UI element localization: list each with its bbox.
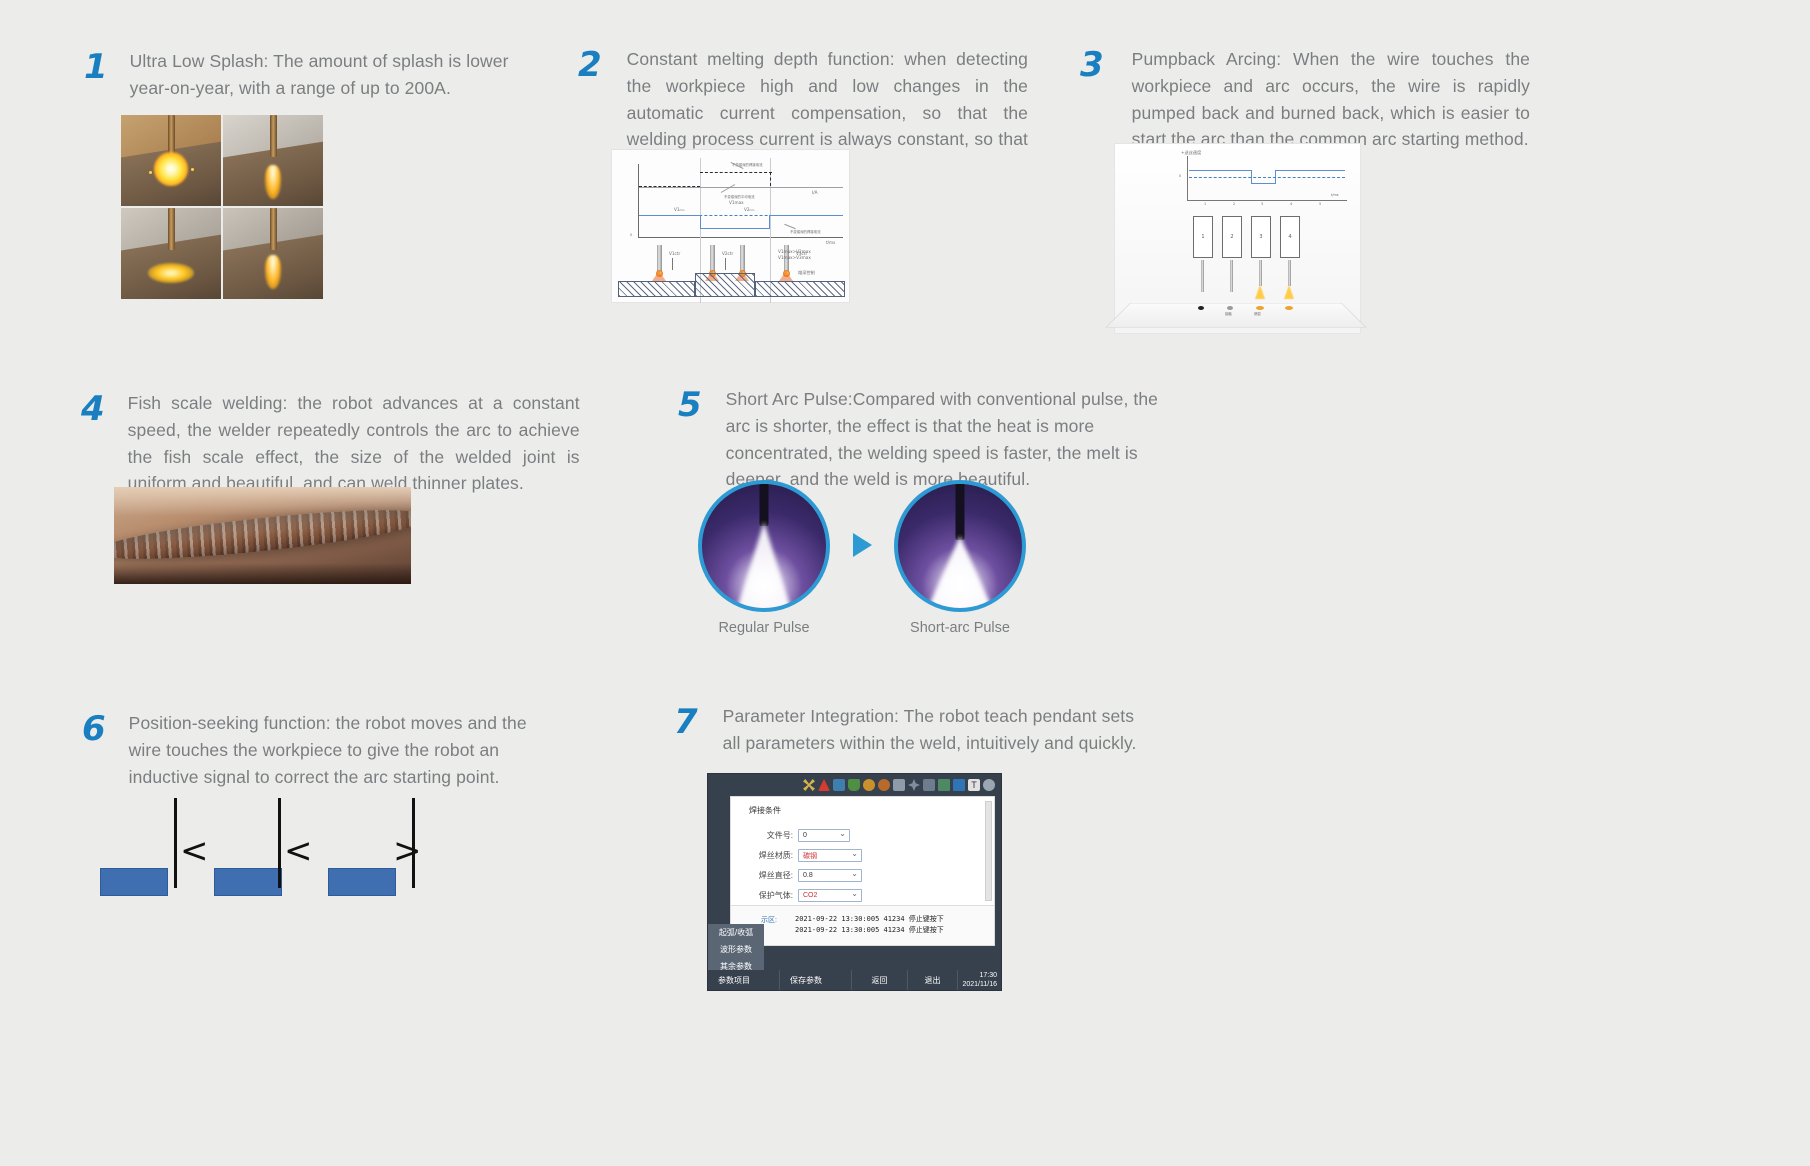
field-row-file-number: 文件号: 0	[739, 829, 850, 842]
seek-wire-1	[174, 798, 177, 888]
seek-chevron-left-2: <	[284, 834, 313, 868]
feature-3: 3 Pumpback Arcing: When the wire touches…	[1080, 46, 1530, 153]
welding-wire	[168, 208, 175, 250]
weld-cone-1	[652, 271, 666, 281]
splash-photo-2	[223, 115, 323, 206]
monitor-icon[interactable]	[953, 779, 965, 791]
hand-icon[interactable]	[893, 779, 905, 791]
feature-4-text: Fish scale welding: the robot advances a…	[128, 390, 580, 497]
chart2-annotation-v1max: V1max	[729, 200, 744, 205]
teach-pendant-screenshot: T 焊接条件 文件号: 0 焊丝材质: 碳钢 焊丝直径: 0.8 保护气体: C…	[707, 773, 1002, 991]
side-tab-arc-start-end[interactable]: 起弧/收弧	[708, 924, 764, 941]
pendant-toolbar: T	[708, 774, 1001, 796]
field-row-wire-material: 焊丝材质: 碳钢	[739, 849, 862, 862]
base-metal-left	[618, 281, 695, 297]
bottom-button-parameter-items[interactable]: 参数项目	[708, 970, 780, 990]
contact-dot-1	[1198, 306, 1204, 310]
stage-box-1-label: 1	[1201, 234, 1204, 240]
chart2-peak-current-trace	[770, 172, 772, 186]
comparison-arrow-icon	[853, 533, 872, 557]
workpiece-plane	[1105, 303, 1367, 328]
calc-icon[interactable]	[938, 779, 950, 791]
arc-glow	[154, 152, 188, 186]
seek-wire-2	[278, 798, 281, 888]
feature-3-header: 3 Pumpback Arcing: When the wire touches…	[1080, 46, 1530, 153]
feature-6-header: 6 Position-seeking function: the robot m…	[82, 710, 562, 790]
chart2-label-v1min: V1min	[674, 207, 684, 212]
shielding-gas-select[interactable]: CO2	[798, 889, 862, 902]
chart2-legend-0: V1max>V2max	[778, 249, 811, 254]
contact-dot-4	[1285, 306, 1293, 310]
stage-wire-1	[1201, 260, 1204, 292]
seek-plate-2	[214, 868, 282, 896]
field-label: 文件号:	[739, 830, 793, 841]
shield-icon[interactable]	[848, 779, 860, 791]
seek-chevron-right-3: >	[393, 834, 422, 868]
short-arc-pulse-caption: Short-arc Pulse	[889, 620, 1031, 636]
chart2-voltage-trace	[769, 215, 843, 216]
chart2-peak-current-trace	[700, 172, 772, 173]
robot-icon[interactable]	[833, 779, 845, 791]
chart2-x-axis	[638, 237, 843, 238]
log-row-1: 2021-09-22 13:30:005 41234 停止键按下	[795, 914, 944, 924]
chart2-voltage-trace	[700, 228, 770, 229]
feature-5-header: 5 Short Arc Pulse:Compared with conventi…	[678, 386, 1158, 493]
chart3-step-5: 5	[1319, 202, 1321, 206]
splash-photo-3	[121, 208, 221, 299]
feature-6: 6 Position-seeking function: the robot m…	[82, 710, 562, 790]
photo-shadow	[114, 563, 411, 584]
field-row-shielding-gas: 保护气体: CO2	[739, 889, 862, 902]
torch-1	[657, 245, 662, 273]
log-area: 示区: 2021-09-22 13:30:005 41234 停止键按下 202…	[731, 905, 994, 945]
chart2-annotation-5: 不变熔深的焊接电流	[790, 229, 821, 234]
user-icon[interactable]	[983, 779, 995, 791]
pulse-comparison: Regular Pulse Short-arc Pulse	[698, 480, 1028, 650]
feature-1-header: 1 Ultra Low Splash: The amount of splash…	[84, 48, 534, 102]
constant-melting-depth-diagram: 0 I/A t/ms 不变熔深的焊接电流 不变熔深的平均电流 V1max V1m…	[611, 149, 850, 303]
feature-2-number: 2	[578, 46, 602, 82]
chart2-y-axis	[638, 164, 639, 238]
feature-5-number: 5	[678, 386, 702, 422]
tools-icon[interactable]	[803, 779, 815, 791]
stage-wire-2	[1230, 260, 1233, 292]
pendant-content-panel: 焊接条件 文件号: 0 焊丝材质: 碳钢 焊丝直径: 0.8 保护气体: CO2…	[730, 796, 995, 946]
regular-pulse-image	[698, 480, 830, 612]
short-arc-cone	[926, 536, 994, 612]
chart2-mean-current-line	[639, 187, 843, 188]
feature-5: 5 Short Arc Pulse:Compared with conventi…	[678, 386, 1158, 493]
wire-diameter-select[interactable]: 0.8	[798, 869, 862, 882]
arrows-icon[interactable]	[923, 779, 935, 791]
chart2-torch-label-1: V1ctr	[669, 251, 680, 256]
infographic-page: 1 Ultra Low Splash: The amount of splash…	[0, 0, 1810, 1166]
chart3-stage-label-2: 燃弧	[1254, 311, 1261, 316]
chart3-y-axis	[1187, 156, 1188, 200]
feature-5-text: Short Arc Pulse:Compared with convention…	[726, 386, 1158, 493]
chart2-legend-1: V1max>V3max	[778, 255, 811, 260]
feature-6-number: 6	[82, 710, 106, 746]
chart3-x-unit: t/ms	[1331, 193, 1339, 197]
feature-4: 4 Fish scale welding: the robot advances…	[81, 390, 581, 497]
position-seeking-diagram: < < >	[100, 798, 430, 898]
arc-flame-4	[1284, 285, 1294, 299]
stage-box-1: 1	[1193, 216, 1213, 258]
chart3-step-2: 2	[1233, 202, 1235, 206]
bottom-button-back[interactable]: 返回	[852, 970, 908, 990]
stage-box-3: 3	[1251, 216, 1271, 258]
seek-chevron-left-1: <	[180, 834, 209, 868]
stage-box-3-label: 3	[1259, 234, 1262, 240]
clock-time: 17:30	[979, 972, 997, 979]
splash-photo-4	[223, 208, 323, 299]
short-arc-pulse-image	[894, 480, 1026, 612]
welding-wire	[270, 208, 277, 250]
feature-4-header: 4 Fish scale welding: the robot advances…	[81, 390, 581, 497]
arc-droplet	[265, 255, 281, 289]
pulse-wire	[956, 484, 965, 540]
feature-1-image-grid	[121, 115, 323, 299]
chart2-voltage-trace	[700, 215, 701, 229]
wire-material-select[interactable]: 碳钢	[798, 849, 862, 862]
chart2-x-label: t/ms	[826, 240, 835, 245]
torch-3	[740, 245, 745, 273]
chart2-annotation-1: 不变熔深的平均电流	[724, 194, 755, 199]
chart2-y-label: I/A	[812, 190, 818, 195]
feature-1-number: 1	[84, 48, 108, 84]
file-number-select[interactable]: 0	[798, 829, 850, 842]
chart3-step-4: 4	[1290, 202, 1292, 206]
bottom-button-save-params[interactable]: 保存参数	[780, 970, 852, 990]
welding-wire	[270, 115, 277, 157]
side-tab-waveform-params[interactable]: 波形参数	[708, 941, 764, 958]
feature-4-number: 4	[81, 390, 105, 426]
weld-cone-4	[779, 271, 793, 281]
chart2-origin-label: 0	[630, 233, 632, 237]
stage-box-2-label: 2	[1230, 234, 1233, 240]
chart3-zero-dashed	[1189, 177, 1345, 178]
globe-icon[interactable]	[878, 779, 890, 791]
stage-box-4: 4	[1280, 216, 1300, 258]
fish-scale-weld-photo	[114, 487, 411, 584]
chart2-label-v2min: V2min	[744, 207, 754, 212]
welding-conditions-title: 焊接条件	[749, 805, 781, 816]
feature-3-number: 3	[1080, 46, 1104, 82]
chart2-mean-dashed	[639, 186, 700, 187]
stage-box-4-label: 4	[1288, 234, 1291, 240]
chart3-x-axis	[1187, 200, 1347, 201]
feature-1-text: Ultra Low Splash: The amount of splash i…	[130, 48, 530, 102]
weld-pool-glow	[148, 263, 194, 283]
field-label: 焊丝直径:	[739, 870, 793, 881]
stage-wire-4	[1288, 260, 1291, 286]
base-metal-raised	[695, 273, 755, 297]
field-row-wire-diameter: 焊丝直径: 0.8	[739, 869, 862, 882]
chart3-feed-speed-trace	[1275, 170, 1345, 171]
stage-wire-3	[1259, 260, 1262, 286]
chart3-feed-speed-trace	[1251, 183, 1275, 184]
move-icon[interactable]	[908, 779, 920, 791]
pumpback-arcing-diagram: +送丝速度 0 t/ms 1 2 3 4 5 1 2 3 4	[1114, 143, 1361, 334]
field-label: 焊丝材质:	[739, 850, 793, 861]
base-metal-right	[755, 281, 845, 297]
panel-scrollbar[interactable]	[985, 801, 992, 901]
feature-7-text: Parameter Integration: The robot teach p…	[723, 703, 1143, 757]
feature-1: 1 Ultra Low Splash: The amount of splash…	[84, 48, 534, 102]
warning-icon[interactable]	[818, 779, 830, 791]
chart3-step-3: 3	[1261, 202, 1263, 206]
arrow-down-1	[672, 258, 673, 270]
arrow-down-2	[725, 258, 726, 270]
welding-wire	[168, 115, 175, 157]
feature-7: 7 Parameter Integration: The robot teach…	[674, 703, 1154, 757]
chart3-origin-label: 0	[1179, 174, 1181, 178]
torch-2	[710, 245, 715, 273]
feature-3-text: Pumpback Arcing: When the wire touches t…	[1132, 46, 1530, 153]
contact-dot-2	[1227, 306, 1233, 310]
gear-icon[interactable]	[863, 779, 875, 791]
field-label: 保护气体:	[739, 890, 793, 901]
chart3-step-1: 1	[1204, 202, 1206, 206]
log-row-2: 2021-09-22 13:30:005 41234 停止键按下	[795, 925, 944, 935]
feature-6-text: Position-seeking function: the robot mov…	[129, 710, 561, 790]
text-icon[interactable]: T	[968, 779, 980, 791]
stage-box-2: 2	[1222, 216, 1242, 258]
regular-pulse-caption: Regular Pulse	[693, 620, 835, 636]
bottom-button-exit[interactable]: 退出	[908, 970, 958, 990]
chart3-feed-speed-trace	[1189, 170, 1251, 171]
chart2-torch-label-2: V2ctr	[722, 251, 733, 256]
regular-arc-cone	[736, 522, 792, 612]
chart3-axis-label: +送丝速度	[1181, 150, 1201, 156]
feature-7-number: 7	[674, 703, 698, 739]
chart2-legend-title: 熔深控制	[798, 270, 815, 276]
splash-photo-1	[121, 115, 221, 206]
clock-date: 2021/11/16	[962, 981, 997, 988]
chart2-voltage-trace	[769, 215, 770, 229]
leader-line	[721, 184, 735, 193]
chart2-voltage-trace	[639, 215, 700, 216]
seek-plate-1	[100, 868, 168, 896]
pendant-clock: 17:30 2021/11/16	[962, 972, 997, 990]
pendant-bottom-bar: 参数项目 保存参数 返回 退出 17:30 2021/11/16	[708, 970, 1001, 990]
pulse-wire	[760, 484, 769, 526]
contact-dot-3	[1256, 306, 1264, 310]
feature-7-header: 7 Parameter Integration: The robot teach…	[674, 703, 1154, 757]
chart3-stage-label-0: 接触	[1225, 311, 1232, 316]
seek-plate-3	[328, 868, 396, 896]
arc-flame-3	[1255, 285, 1265, 299]
arc-droplet	[265, 165, 281, 199]
